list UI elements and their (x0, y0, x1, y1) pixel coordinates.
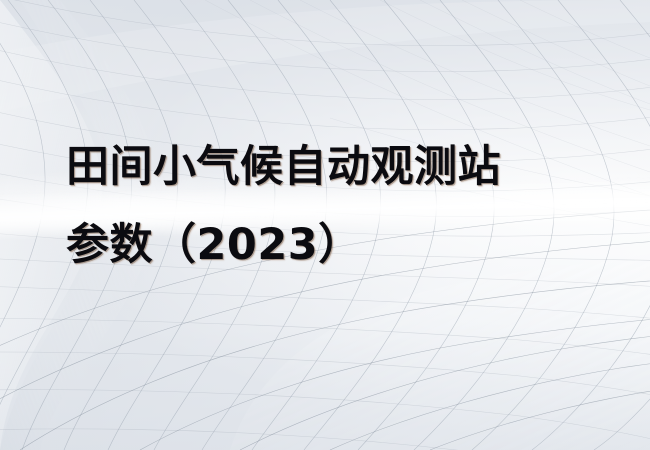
title-line-2: 参数（2023） (66, 206, 606, 284)
title-slide: 田间小气候自动观测站 参数（2023） (0, 0, 650, 450)
title-block: 田间小气候自动观测站 参数（2023） (66, 128, 606, 284)
title-line-1: 田间小气候自动观测站 (66, 128, 606, 206)
